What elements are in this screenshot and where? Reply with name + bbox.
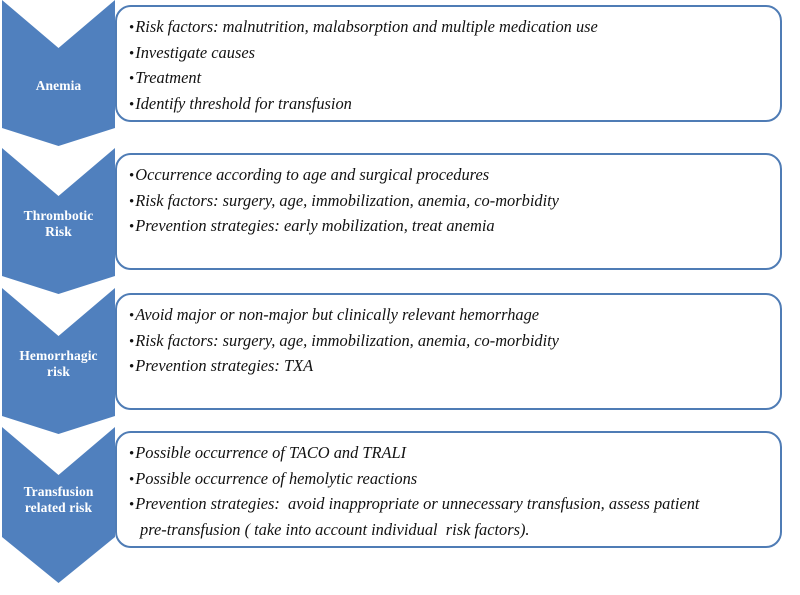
bullet-text: Avoid major or non-major but clinically … bbox=[135, 305, 539, 324]
arrow-label-line: risk bbox=[2, 364, 115, 380]
bullet-text: Prevention strategies: avoid inappropria… bbox=[135, 494, 699, 513]
arrow-label-line: Anemia bbox=[2, 78, 115, 94]
process-flow-diagram: Anemia•Risk factors: malnutrition, malab… bbox=[0, 0, 800, 595]
bullet-item: •Investigate causes bbox=[129, 41, 770, 67]
bullet-text: Possible occurrence of hemolytic reactio… bbox=[135, 469, 417, 488]
arrow-label: Transfusionrelated risk bbox=[2, 484, 115, 516]
arrow-label-line: Hemorrhagic bbox=[2, 348, 115, 364]
bullet-item: •Risk factors: malnutrition, malabsorpti… bbox=[129, 15, 770, 41]
bullet-item: •Risk factors: surgery, age, immobilizat… bbox=[129, 329, 770, 355]
content-callout-box: •Possible occurrence of TACO and TRALI•P… bbox=[115, 431, 782, 548]
chevron-shape-icon bbox=[2, 0, 115, 146]
content-callout-box: •Avoid major or non-major but clinically… bbox=[115, 293, 782, 410]
bullet-text: Possible occurrence of TACO and TRALI bbox=[135, 443, 406, 462]
arrow-label-line: Thrombotic bbox=[2, 208, 115, 224]
bullet-text: Prevention strategies: TXA bbox=[135, 356, 313, 375]
arrow-label-line: Risk bbox=[2, 224, 115, 240]
bullet-text: Risk factors: surgery, age, immobilizati… bbox=[135, 331, 559, 350]
bullet-item: •Avoid major or non-major but clinically… bbox=[129, 303, 770, 329]
arrow-label-line: related risk bbox=[2, 500, 115, 516]
bullet-item-continuation: pre-transfusion ( take into account indi… bbox=[129, 518, 770, 542]
content-callout-box: •Occurrence according to age and surgica… bbox=[115, 153, 782, 270]
arrow-label: Anemia bbox=[2, 78, 115, 94]
bullet-text: Treatment bbox=[135, 68, 201, 87]
arrow-label: Hemorrhagicrisk bbox=[2, 348, 115, 380]
bullet-text: pre-transfusion ( take into account indi… bbox=[140, 520, 530, 539]
bullet-text: Investigate causes bbox=[135, 43, 255, 62]
bullet-item: •Risk factors: surgery, age, immobilizat… bbox=[129, 189, 770, 215]
bullet-item: •Prevention strategies: TXA bbox=[129, 354, 770, 380]
bullet-text: Identify threshold for transfusion bbox=[135, 94, 352, 113]
bullet-text: Risk factors: surgery, age, immobilizati… bbox=[135, 191, 559, 210]
bullet-item: •Identify threshold for transfusion bbox=[129, 92, 770, 118]
bullet-item: •Prevention strategies: avoid inappropri… bbox=[129, 492, 770, 518]
arrow-label: ThromboticRisk bbox=[2, 208, 115, 240]
bullet-item: •Possible occurrence of hemolytic reacti… bbox=[129, 467, 770, 493]
bullet-item: •Prevention strategies: early mobilizati… bbox=[129, 214, 770, 240]
bullet-item: •Occurrence according to age and surgica… bbox=[129, 163, 770, 189]
bullet-text: Prevention strategies: early mobilizatio… bbox=[135, 216, 494, 235]
content-callout-box: •Risk factors: malnutrition, malabsorpti… bbox=[115, 5, 782, 122]
bullet-text: Occurrence according to age and surgical… bbox=[135, 165, 489, 184]
bullet-text: Risk factors: malnutrition, malabsorptio… bbox=[135, 17, 598, 36]
bullet-item: •Possible occurrence of TACO and TRALI bbox=[129, 441, 770, 467]
arrow-label-line: Transfusion bbox=[2, 484, 115, 500]
bullet-item: •Treatment bbox=[129, 66, 770, 92]
